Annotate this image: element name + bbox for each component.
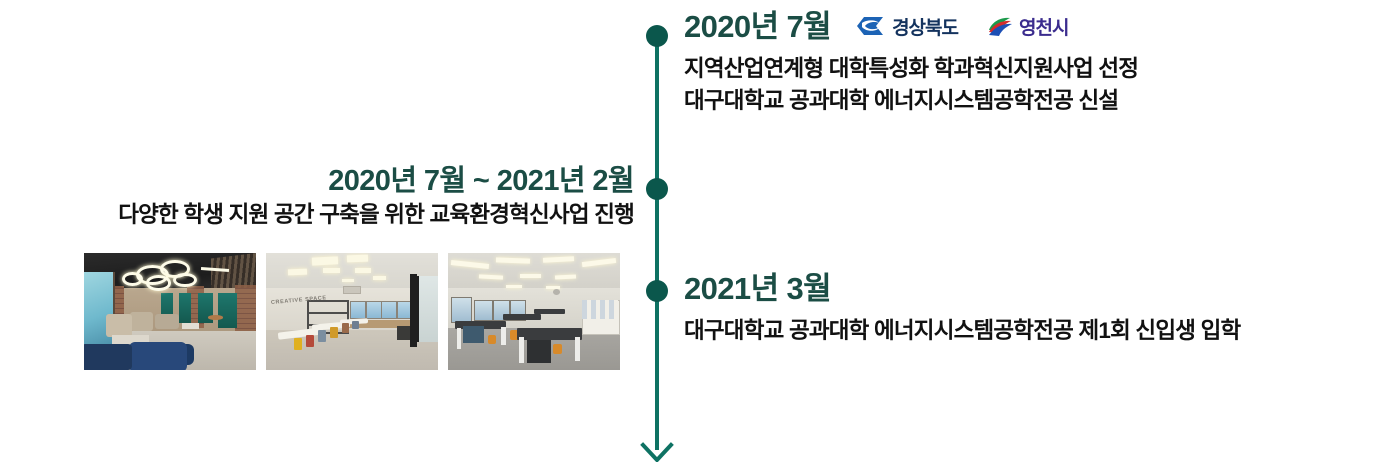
- photo-student-lounge: [84, 253, 256, 370]
- gyeongsangbukdo-logo: 경상북도: [853, 13, 958, 40]
- entry-body-2021-03: 대구대학교 공과대학 에너지시스템공학전공 제1회 신입생 입학: [684, 315, 1240, 348]
- yeongcheon-city-logo-text: 영천시: [1019, 13, 1068, 40]
- entry-heading-2021-03: 2021년 3월: [684, 270, 1240, 309]
- timeline-dot-2021-03: [646, 280, 668, 302]
- entry-heading-2020-07-2021-02: 2020년 7월 ~ 2021년 2월: [0, 163, 634, 199]
- entry-body-line: 대구대학교 공과대학 에너지시스템공학전공 제1회 신입생 입학: [684, 315, 1240, 348]
- blue-swoosh-icon: [853, 14, 887, 38]
- timeline-infographic: 2020년 7월 경상북도 영천시: [0, 0, 1378, 468]
- tricolor-swoosh-icon: [986, 14, 1014, 38]
- entry-heading-2020-07: 2020년 7월: [684, 8, 831, 47]
- timeline-axis-line: [655, 30, 659, 443]
- timeline-dot-2020-07-2021-02: [646, 178, 668, 200]
- entry-header-row: 2020년 7월 경상북도 영천시: [684, 8, 1138, 47]
- entry-body-line: 지역산업연계형 대학특성화 학과혁신지원사업 선정: [684, 53, 1138, 86]
- entry-body-2020-07: 지역산업연계형 대학특성화 학과혁신지원사업 선정 대구대학교 공과대학 에너지…: [684, 53, 1138, 118]
- timeline-down-arrow-icon: [636, 428, 678, 462]
- yeongcheon-city-logo: 영천시: [986, 13, 1068, 40]
- partner-logos: 경상북도 영천시: [853, 13, 1068, 42]
- timeline-entry-2020-07: 2020년 7월 경상북도 영천시: [684, 8, 1138, 118]
- photo-lab-workshop: [448, 253, 620, 370]
- timeline-entry-2021-03: 2021년 3월 대구대학교 공과대학 에너지시스템공학전공 제1회 신입생 입…: [684, 270, 1240, 347]
- entry-body-line: 대구대학교 공과대학 에너지시스템공학전공 신설: [684, 85, 1138, 118]
- timeline-entry-2020-07-2021-02: 2020년 7월 ~ 2021년 2월 다양한 학생 지원 공간 구축을 위한 …: [0, 163, 634, 232]
- timeline-dot-2020-07: [646, 25, 668, 47]
- photo-strip: CREATIVE SPACE: [84, 253, 620, 370]
- entry-body-line: 다양한 학생 지원 공간 구축을 위한 교육환경혁신사업 진행: [0, 199, 634, 232]
- photo-creative-space: CREATIVE SPACE: [266, 253, 438, 370]
- gyeongsangbukdo-logo-text: 경상북도: [892, 13, 958, 40]
